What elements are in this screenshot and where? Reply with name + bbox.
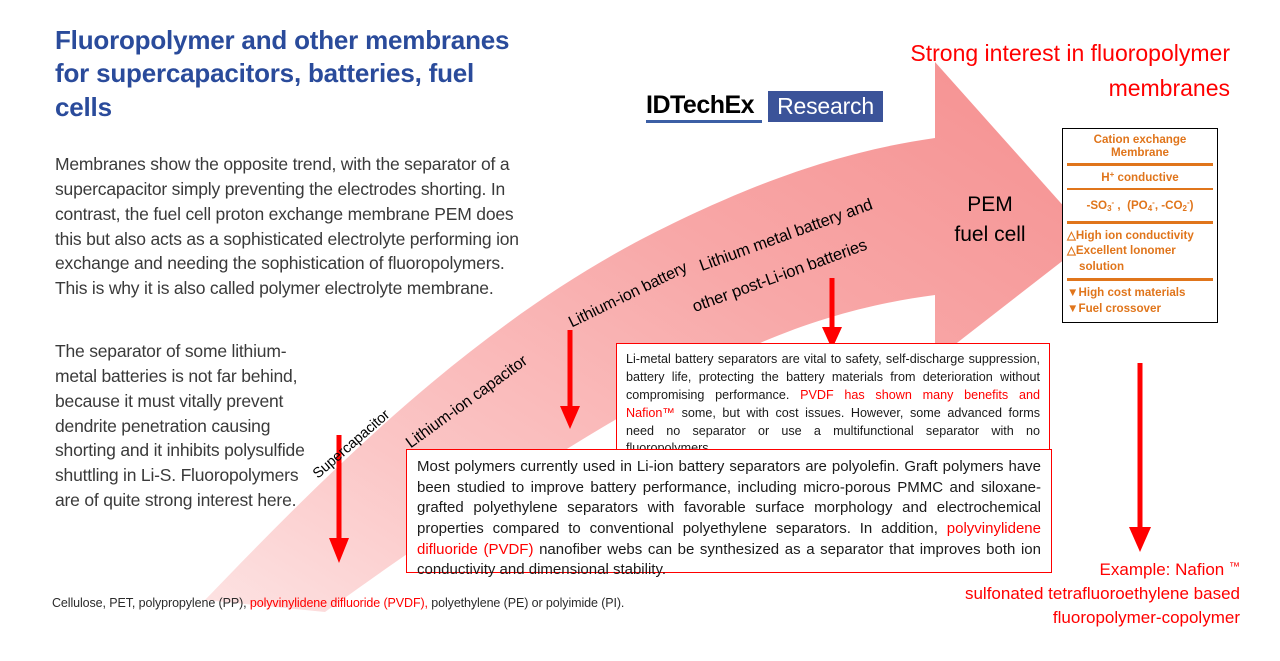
slide-canvas: Fluoropolymer and other membranes for su…	[0, 0, 1280, 661]
band-label-lithium-ion-battery: Lithium-ion battery	[566, 259, 690, 332]
caption-part-1: Cellulose, PET, polypropylene (PP),	[52, 596, 250, 610]
heading-strong-interest-line1: Strong interest in fluoropolymer	[830, 36, 1230, 71]
down-arrow-lithium-ion-capacitor	[558, 330, 582, 430]
nafion-line1-text: Example: Nafion	[1100, 560, 1225, 579]
trademark-icon: ™	[1229, 561, 1240, 573]
body-paragraph-2: The separator of some lithium-metal batt…	[55, 339, 325, 513]
cem-pros: △High ion conductivity △Excellent lonome…	[1063, 224, 1217, 279]
body-paragraph-1: Membranes show the opposite trend, with …	[55, 152, 535, 301]
bottom-caption: Cellulose, PET, polypropylene (PP), poly…	[52, 596, 772, 610]
nafion-line1: Example: Nafion ™	[880, 558, 1240, 582]
caption-part-2: polyethylene (PE) or polyimide (PI).	[428, 596, 624, 610]
cem-so3-charge: -	[1112, 198, 1115, 207]
cem-pro-item-1: △High ion conductivity	[1067, 228, 1212, 244]
band-label-lithium-ion-capacitor: Lithium-ion capacitor	[403, 352, 531, 452]
cem-pro-label-2: Excellent lonomer	[1076, 244, 1176, 257]
cem-header-line2: Membrane	[1068, 146, 1212, 159]
cem-pro-label-3: solution	[1079, 260, 1124, 273]
band-label-lithium-metal-battery-line2: other post-Li-ion batteries	[690, 236, 870, 317]
cem-po4-charge: -	[1152, 198, 1155, 207]
triangle-down-icon-2: ▼	[1067, 302, 1078, 315]
nafion-line2: sulfonated tetrafluoroethylene based	[880, 582, 1240, 606]
cem-pro-item-2: △Excellent lonomer	[1067, 243, 1212, 259]
down-arrow-nafion	[1128, 363, 1152, 553]
cem-con-label-1: High cost materials	[1078, 286, 1185, 299]
cem-con-label-2: Fuel crossover	[1078, 302, 1160, 315]
nafion-example-note: Example: Nafion ™ sulfonated tetrafluoro…	[880, 558, 1240, 630]
cem-conductive-row: H+ conductive	[1063, 166, 1217, 188]
logo-wordmark: IDTechEx	[646, 91, 762, 123]
page-title: Fluoropolymer and other membranes for su…	[55, 24, 525, 124]
cem-header-line1: Cation exchange	[1068, 133, 1212, 146]
pem-label-line2: fuel cell	[940, 220, 1040, 250]
down-arrow-lithium-ion-battery	[820, 278, 844, 350]
callout-box-most-polymers: Most polymers currently used in Li-ion b…	[406, 449, 1052, 573]
triangle-up-icon: △	[1067, 229, 1076, 242]
cem-cons: ▼High cost materials ▼Fuel crossover	[1063, 281, 1217, 322]
heading-strong-interest-line2: membranes	[830, 71, 1230, 106]
cem-pro-item-3: solution	[1067, 259, 1212, 275]
cem-header: Cation exchange Membrane	[1063, 129, 1217, 163]
li-metal-text-2: some, but with cost issues. However, som…	[626, 406, 1040, 456]
callout-box-li-metal-separators: Li-metal battery separators are vital to…	[616, 343, 1050, 452]
cem-co2-charge: -	[1187, 198, 1190, 207]
triangle-down-icon: ▼	[1067, 286, 1078, 299]
cem-con-item-2: ▼Fuel crossover	[1067, 301, 1212, 317]
pem-label-line1: PEM	[940, 190, 1040, 220]
caption-highlight: polyvinylidene difluoride (PVDF),	[250, 596, 428, 610]
cem-formula-row: -SO3- , (PO4-, -CO2-)	[1063, 190, 1217, 221]
nafion-line3: fluoropolymer-copolymer	[880, 606, 1240, 630]
cem-con-item-1: ▼High cost materials	[1067, 285, 1212, 301]
cem-pro-label-1: High ion conductivity	[1076, 229, 1194, 242]
arrow-head-label-pem-fuel-cell: PEM fuel cell	[940, 190, 1040, 251]
cation-exchange-membrane-table: Cation exchange Membrane H+ conductive -…	[1062, 128, 1218, 323]
triangle-up-icon-2: △	[1067, 244, 1076, 257]
heading-strong-interest: Strong interest in fluoropolymer membran…	[830, 36, 1230, 105]
cem-conductive-superscript: +	[1110, 170, 1115, 179]
